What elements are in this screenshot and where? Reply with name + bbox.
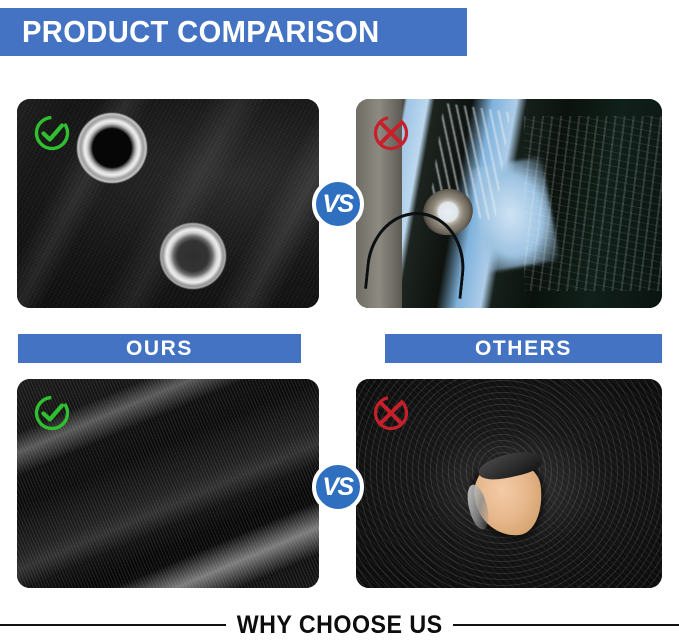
vs-badge-row1: VS [312,178,364,230]
column-label-text: OTHERS [475,337,572,361]
column-label-ours: OURS [18,334,301,363]
comparison-image-ours-row2 [17,379,319,588]
vs-label: VS [322,192,353,217]
footer-text: WHY CHOOSE US [234,611,445,640]
comparison-image-others-row1 [356,99,662,308]
fabric-glint-texture [524,116,662,292]
footer-rule-left [0,624,226,626]
comparison-image-ours-row1 [17,99,319,308]
column-label-others: OTHERS [385,334,662,363]
cross-circle-icon [371,393,411,433]
comparison-image-others-row2 [356,379,662,588]
vs-badge-row2: VS [312,461,364,513]
grommet-shape [160,223,226,289]
cross-circle-icon [371,113,411,153]
vs-label: VS [322,475,353,500]
page-title: PRODUCT COMPARISON [22,14,380,50]
footer-rule-right [453,624,679,626]
footer: WHY CHOOSE US [0,608,679,642]
check-circle-icon [32,393,72,433]
check-circle-icon [32,113,72,153]
column-label-text: OURS [126,337,193,361]
grommet-shape [77,113,147,183]
header-banner: PRODUCT COMPARISON [0,8,467,56]
